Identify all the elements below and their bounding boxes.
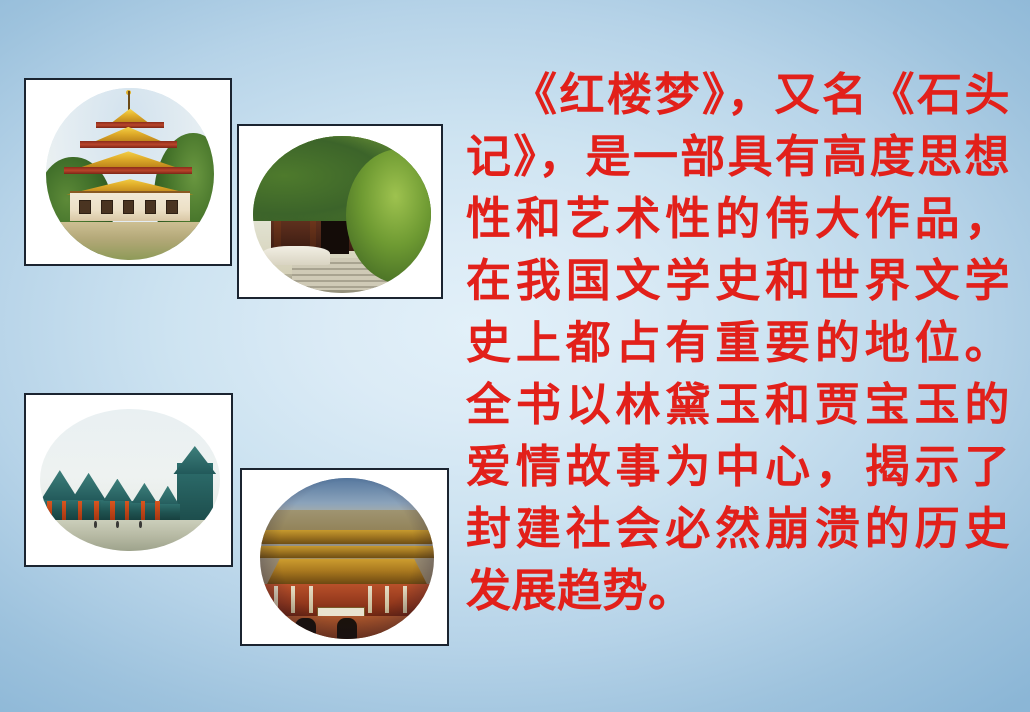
pagoda-window <box>123 200 135 214</box>
pagoda-window <box>79 200 91 214</box>
roofline-figure <box>116 521 119 528</box>
pagoda-spire-icon <box>128 91 130 110</box>
forbidden-vignette <box>260 478 434 639</box>
image-frame-pagoda[interactable] <box>24 78 232 266</box>
roofline-column <box>125 501 130 519</box>
photo-pagoda <box>46 88 214 260</box>
roofline-figure <box>139 521 142 528</box>
roofline-column <box>94 501 99 519</box>
pagoda-band-2 <box>80 141 177 148</box>
photo-pavilion <box>253 136 431 293</box>
image-frame-pavilion[interactable] <box>237 124 443 299</box>
pagoda-window <box>145 200 157 214</box>
roofline-column <box>78 501 83 519</box>
roofline-column <box>62 501 67 519</box>
image-frame-forbidden-city[interactable] <box>240 468 449 646</box>
pagoda-band-3 <box>64 167 192 174</box>
roofline-column <box>47 501 52 519</box>
pagoda-window <box>166 200 178 214</box>
roofline-plaza <box>40 517 220 551</box>
pagoda-wall <box>70 191 191 221</box>
roofline-column <box>155 501 160 519</box>
image-frame-roofline[interactable] <box>24 393 233 567</box>
roofline-gable <box>71 473 107 501</box>
photo-roofline <box>40 409 220 551</box>
roofline-figure <box>94 521 97 528</box>
slide-body-paragraph: 《红楼梦》，又名《石头记》，是一部具有高度思想性和艺术性的伟大作品，在我国文学史… <box>466 64 1010 622</box>
pagoda-window <box>101 200 113 214</box>
roofline-gable <box>101 479 133 505</box>
pavilion-stone-railing-left <box>262 246 330 265</box>
roofline-column <box>110 501 115 519</box>
photo-forbidden-city <box>260 478 434 639</box>
slide-canvas: 《红楼梦》，又名《石头记》，是一部具有高度思想性和艺术性的伟大作品，在我国文学史… <box>0 0 1030 712</box>
roofline-column <box>141 501 146 519</box>
roofline-tower-gable <box>173 446 216 474</box>
pagoda-ground <box>46 222 214 260</box>
pagoda-band-1 <box>96 122 163 127</box>
